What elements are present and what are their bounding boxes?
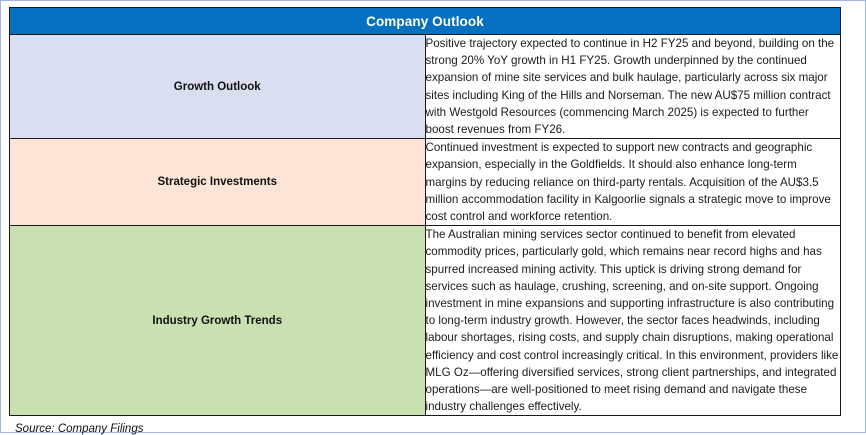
company-outlook-table: Company Outlook Growth Outlook Positive … bbox=[9, 7, 841, 416]
row-label-growth-outlook: Growth Outlook bbox=[10, 35, 426, 139]
source-note: Source: Company Filings bbox=[15, 423, 857, 435]
row-label-strategic-investments: Strategic Investments bbox=[10, 139, 426, 226]
table-header-row: Company Outlook bbox=[10, 8, 841, 35]
row-text-strategic-investments: Continued investment is expected to supp… bbox=[425, 139, 841, 226]
table-row: Strategic Investments Continued investme… bbox=[10, 139, 841, 226]
row-text-industry-growth-trends: The Australian mining services sector co… bbox=[425, 226, 841, 416]
table-row: Industry Growth Trends The Australian mi… bbox=[10, 226, 841, 416]
page-frame: Company Outlook Growth Outlook Positive … bbox=[0, 0, 866, 433]
row-label-industry-growth-trends: Industry Growth Trends bbox=[10, 226, 426, 416]
table-title: Company Outlook bbox=[10, 8, 841, 35]
table-row: Growth Outlook Positive trajectory expec… bbox=[10, 35, 841, 139]
row-text-growth-outlook: Positive trajectory expected to continue… bbox=[425, 35, 841, 139]
